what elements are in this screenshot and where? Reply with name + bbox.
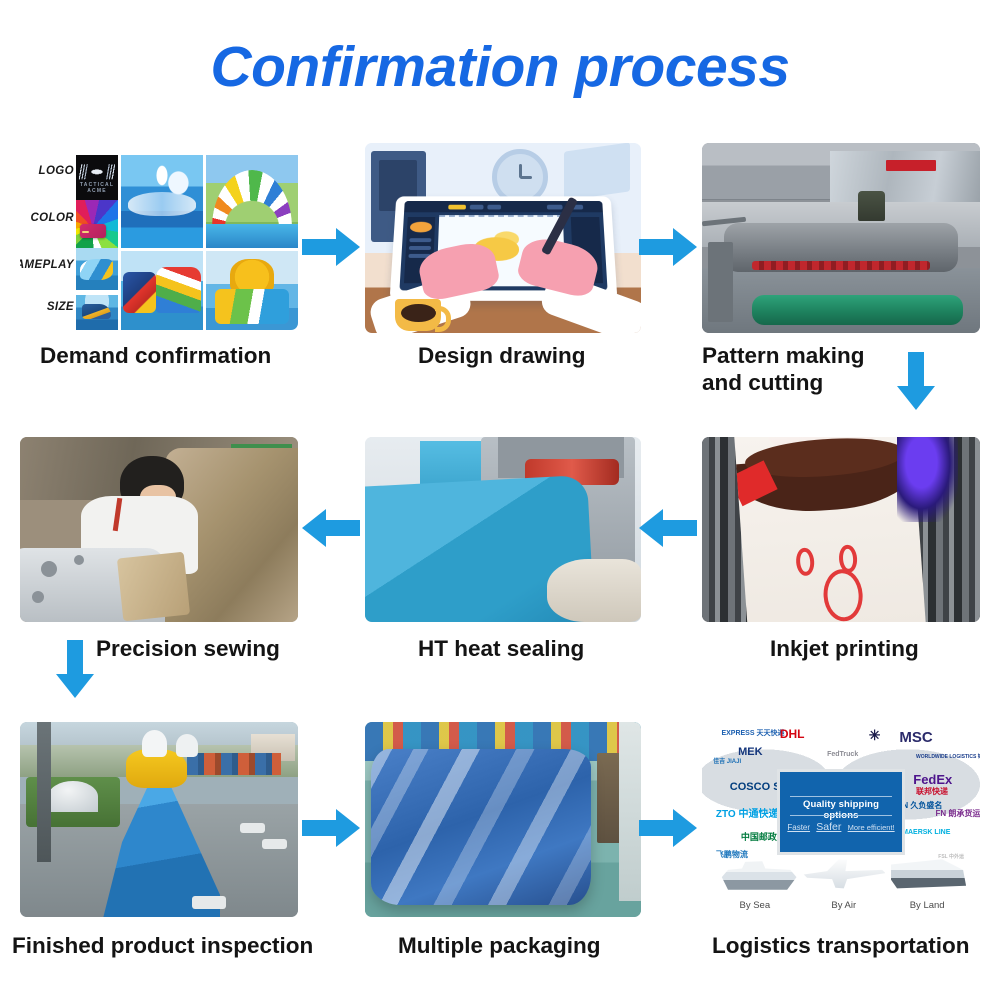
arrow-row2-step3-to-step2 <box>639 508 697 548</box>
carrier-logo-zto-express: ZTO 中通快递 <box>716 810 779 821</box>
mode-by-air: By Air <box>802 900 885 911</box>
caption-precision-sewing: Precision sewing <box>96 635 336 662</box>
panel-pattern-making-and-cutting <box>702 143 980 333</box>
carrier-logo-feng-logistics: 飞鹏物流 <box>716 851 748 859</box>
coffee-cup-icon <box>395 299 441 331</box>
parked-car-3 <box>192 896 225 910</box>
quality-shipping-options-box: Quality shipping options Faster Safer Mo… <box>777 769 905 855</box>
tile-color-swatches <box>76 200 118 248</box>
red-mouth-circle <box>822 567 865 622</box>
arrow-row3-step2-to-step3 <box>639 808 697 848</box>
caption-logistics-transportation: Logistics transportation <box>712 932 1000 959</box>
carrier-logo-china-post: 中国邮政 <box>741 833 777 842</box>
wall-panel <box>564 143 630 201</box>
confirmation-process-infographic: Confirmation process LOGO COLOR GAMEPLAY… <box>0 0 1000 1000</box>
caption-pattern-making-and-cutting: Pattern making and cutting <box>702 342 892 396</box>
panel-logistics-transportation: EXPRESS 天天快递DHLMSC✳FedTruckMEK佳吉 JIAJIWO… <box>702 722 980 917</box>
quality-shipping-heading: Quality shipping options <box>787 799 894 821</box>
panel-design-drawing <box>365 143 641 333</box>
fabric-piece-being-sewn <box>117 552 190 622</box>
carrier-logo-fn-logistics: FN 朗承货运 <box>936 810 980 818</box>
green-pvc-roll <box>752 295 963 325</box>
logo-wordmark: TACTICAL ACME <box>76 182 118 194</box>
arrow-row1-to-row2 <box>896 352 936 410</box>
red-banner <box>886 160 936 171</box>
caption-finished-product-inspection: Finished product inspection <box>12 932 332 959</box>
caption-demand-confirmation: Demand confirmation <box>40 342 320 369</box>
mode-by-land: By Land <box>885 900 968 911</box>
panel-demand-confirmation: LOGO COLOR GAMEPLAY SIZE TACTICAL ACME <box>20 143 298 330</box>
caption-inkjet-printing: Inkjet printing <box>770 635 1000 662</box>
panel-multiple-packaging <box>365 722 641 917</box>
label-gameplay: GAMEPLAY <box>20 259 74 271</box>
carrier-logo-maersk-line: MAERSK LINE <box>902 829 950 836</box>
arrow-row1-step1-to-step2 <box>302 227 360 267</box>
carrier-logo-tiantian-express: EXPRESS 天天快递 <box>721 730 784 737</box>
gloved-hand <box>547 559 641 622</box>
color-card-icon <box>80 224 106 238</box>
label-size: SIZE <box>47 301 74 313</box>
tile-logo-tactical-acme: TACTICAL ACME <box>76 155 118 200</box>
arrow-row2-to-row3 <box>55 640 95 698</box>
tile-tiger-slide <box>206 251 298 330</box>
rainbow-arch-icon <box>212 170 293 228</box>
arrow-row2-step2-to-step1 <box>302 508 360 548</box>
link-more-efficient[interactable]: More efficient! <box>848 823 895 832</box>
carrier-logo-worldwide-logistics: WORLDWIDE LOGISTICS 锦程物流 <box>916 755 980 760</box>
tile-size-pirate-ship <box>76 295 118 330</box>
warehouse-windows <box>830 151 980 204</box>
divider-bottom <box>790 815 892 816</box>
caption-multiple-packaging: Multiple packaging <box>398 932 668 959</box>
carrier-logo-msc-compass-icon: ✳ <box>869 728 881 743</box>
caption-ht-heat-sealing: HT heat sealing <box>418 635 658 662</box>
uv-lamp-glow <box>897 437 958 522</box>
carrier-logo-dhl: DHL <box>780 728 805 741</box>
arrow-row3-step1-to-step2 <box>302 808 360 848</box>
page-title: Confirmation process <box>0 34 1000 100</box>
foreground-pole <box>37 722 51 862</box>
carrier-logo-fsl-logistics: FSL 中外运 <box>938 855 964 860</box>
carrier-logo-fedex-cn: 联邦快递 <box>916 788 948 796</box>
requirement-label-column: LOGO COLOR GAMEPLAY SIZE <box>20 143 76 330</box>
label-color: COLOR <box>30 212 74 224</box>
carrier-logo-fedex: FedEx <box>913 773 952 787</box>
tile-rainbow-slide <box>206 155 298 248</box>
panel-precision-sewing <box>20 437 298 622</box>
tile-gameplay-small <box>76 248 118 290</box>
worker <box>858 191 886 221</box>
panel-ht-heat-sealing: 5.02 <box>365 437 641 622</box>
shipping-benefit-links: Faster Safer More efficient! <box>787 821 894 833</box>
label-logo: LOGO <box>39 165 74 177</box>
caption-design-drawing: Design drawing <box>418 342 678 369</box>
arrow-row1-step2-to-step3 <box>639 227 697 267</box>
shipping-containers <box>187 753 282 774</box>
winged-emblem-icon <box>79 164 115 179</box>
tile-inflatable-waterpark <box>121 155 203 248</box>
dragon-horn-right <box>176 734 198 757</box>
carrier-logo-mek: MEK <box>738 747 762 759</box>
white-dome-tent <box>48 781 98 812</box>
carrier-logo-fedtruck: FedTruck <box>827 751 858 758</box>
pool-water <box>206 224 298 248</box>
panel-inkjet-printing <box>702 437 980 622</box>
link-safer[interactable]: Safer <box>816 821 841 833</box>
carrier-logo-msc: MSC <box>899 730 932 746</box>
red-measuring-strip <box>752 261 930 271</box>
red-eye-left <box>795 547 815 576</box>
divider-top <box>790 796 892 797</box>
link-faster[interactable]: Faster <box>787 823 810 832</box>
tile-multicolor-castle <box>121 251 203 330</box>
warehouse-wall <box>619 722 641 901</box>
blue-wrapped-package <box>371 749 592 905</box>
mode-by-sea: By Sea <box>713 900 796 911</box>
panel-finished-product-inspection <box>20 722 298 917</box>
machine-frame <box>708 242 733 322</box>
dragon-horn-left <box>142 730 167 757</box>
parked-car-2 <box>262 839 287 849</box>
carrier-logo-jiaji-logistics: 佳吉 JIAJI <box>713 759 741 765</box>
parked-car-1 <box>240 823 265 833</box>
